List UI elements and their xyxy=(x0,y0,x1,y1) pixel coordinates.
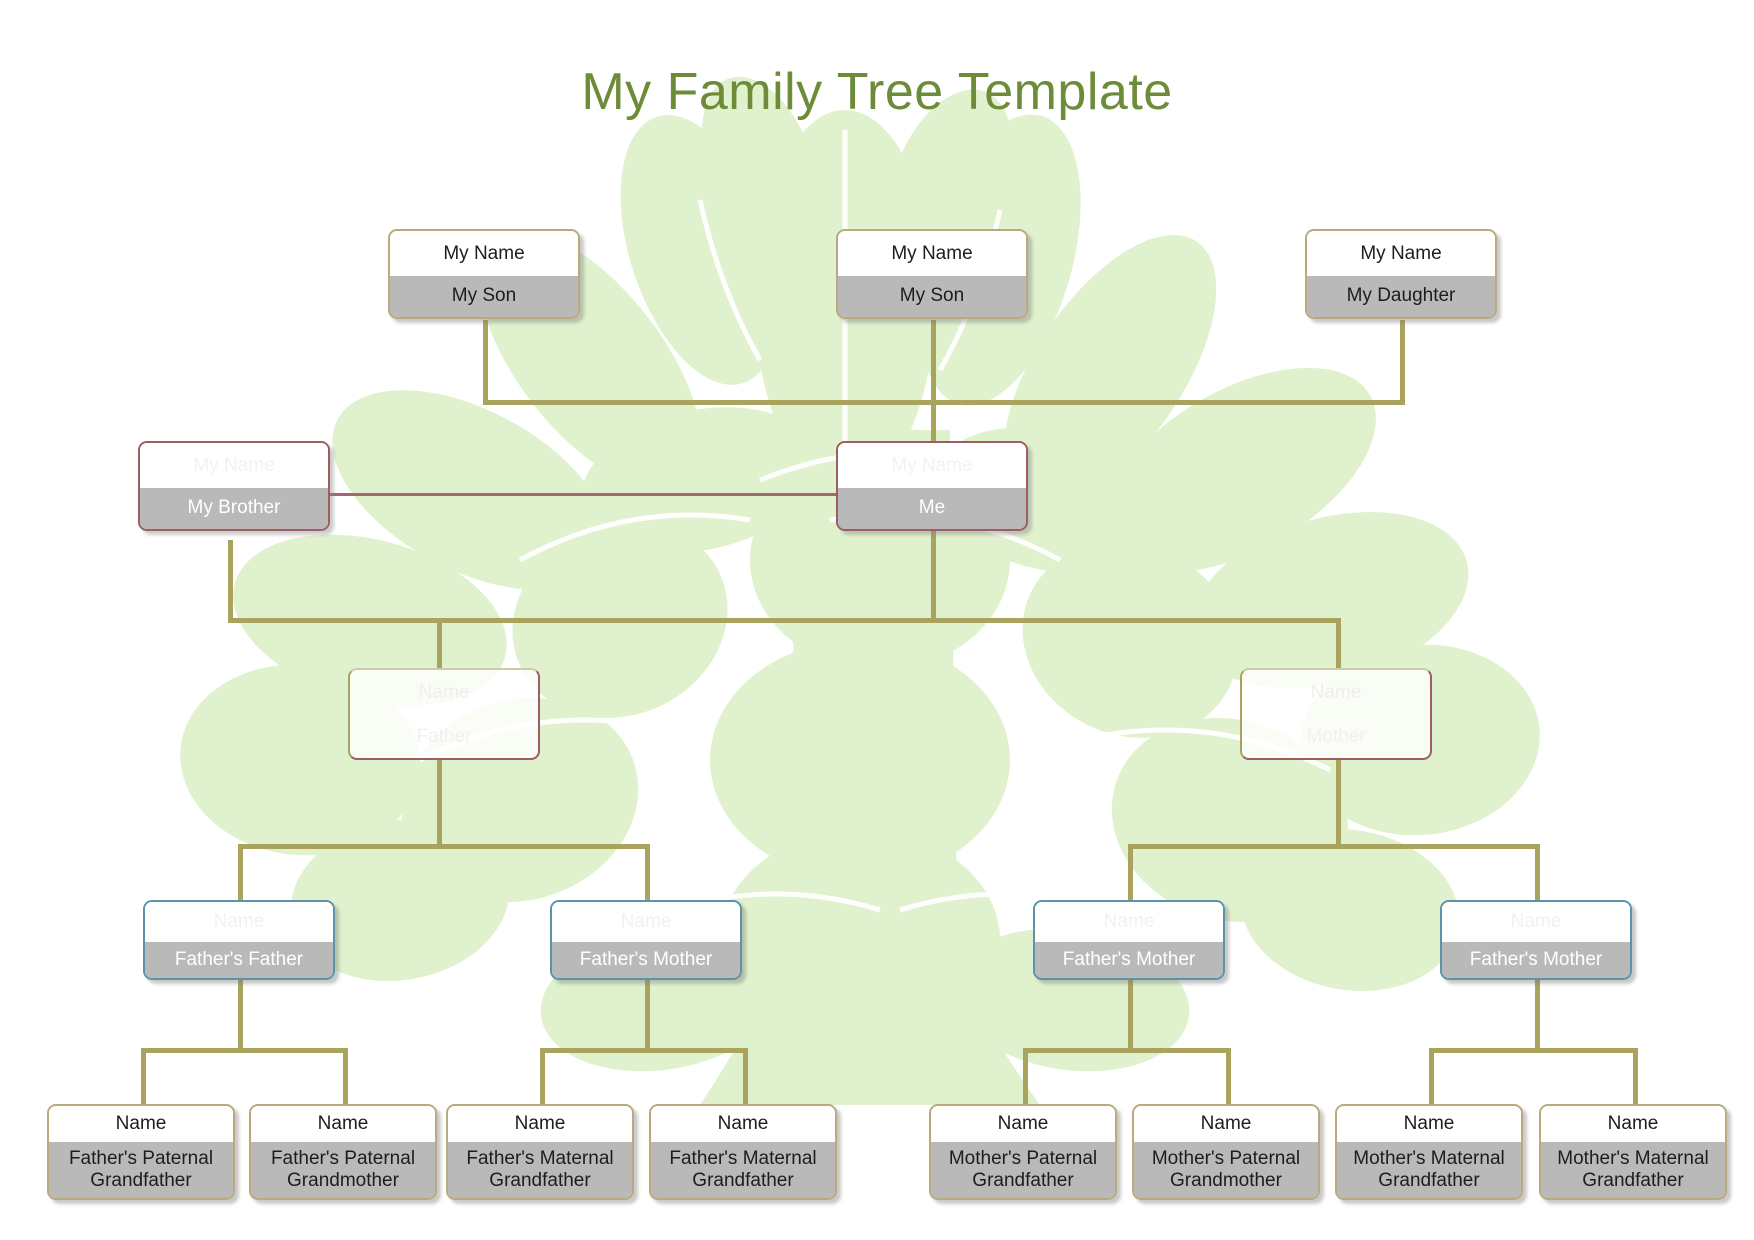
node-self-me[interactable]: My Name Me xyxy=(836,441,1028,531)
node-child-3-name[interactable]: My Name xyxy=(1307,231,1495,276)
connector-children-bus xyxy=(483,400,1405,405)
node-grandparent-4-role[interactable]: Father's Mother xyxy=(1442,942,1630,978)
connector-ggp4-stem xyxy=(743,1048,748,1104)
connector-gp2-stem xyxy=(645,844,650,900)
node-parent-father-role[interactable]: Father xyxy=(350,716,538,758)
node-great-grandparent-5-name[interactable]: Name xyxy=(931,1106,1115,1142)
node-child-3[interactable]: My Name My Daughter xyxy=(1305,229,1497,319)
node-grandparent-1[interactable]: Name Father's Father xyxy=(143,900,335,980)
node-great-grandparent-5-role[interactable]: Mother's Paternal Grandfather xyxy=(931,1142,1115,1198)
node-child-2-role[interactable]: My Son xyxy=(838,276,1026,317)
connector-sibling-link xyxy=(228,493,934,496)
node-parent-mother-name[interactable]: Name xyxy=(1242,670,1430,716)
node-great-grandparent-1[interactable]: Name Father's Paternal Grandfather xyxy=(47,1104,235,1200)
connector-mother-stem xyxy=(1336,618,1341,668)
connector-gp4-down xyxy=(1535,980,1540,1052)
connector-gp2-down xyxy=(645,980,650,1052)
ggp-8-role-line2: Grandfather xyxy=(1582,1170,1683,1192)
ggp-7-role-line2: Grandfather xyxy=(1378,1170,1479,1192)
connector-father-stem xyxy=(437,618,442,668)
connector-gp3-down xyxy=(1128,980,1133,1052)
node-grandparent-1-role[interactable]: Father's Father xyxy=(145,942,333,978)
node-great-grandparent-3-role[interactable]: Father's Maternal Grandfather xyxy=(448,1142,632,1198)
connector-ggp34-bus xyxy=(540,1048,743,1053)
connector-gp1-stem xyxy=(238,844,243,900)
connector-child-3-stem xyxy=(1400,320,1405,402)
connector-ggp5-stem xyxy=(1023,1048,1028,1104)
node-sibling-brother[interactable]: My Name My Brother xyxy=(138,441,330,531)
node-great-grandparent-8[interactable]: Name Mother's Maternal Grandfather xyxy=(1539,1104,1727,1200)
connector-gp1-down xyxy=(238,980,243,1052)
node-great-grandparent-3[interactable]: Name Father's Maternal Grandfather xyxy=(446,1104,634,1200)
connector-ggp6-stem xyxy=(1226,1048,1231,1104)
node-grandparent-3-role[interactable]: Father's Mother xyxy=(1035,942,1223,978)
ggp-3-role-line2: Grandfather xyxy=(489,1170,590,1192)
node-great-grandparent-4-role[interactable]: Father's Maternal Grandfather xyxy=(651,1142,835,1198)
node-grandparent-2-role[interactable]: Father's Mother xyxy=(552,942,740,978)
node-great-grandparent-2-name[interactable]: Name xyxy=(251,1106,435,1142)
ggp-2-role-line2: Grandmother xyxy=(287,1170,399,1192)
ggp-5-role-line2: Grandfather xyxy=(972,1170,1073,1192)
ggp-6-role-line2: Grandmother xyxy=(1170,1170,1282,1192)
connector-child-1-stem xyxy=(483,320,488,402)
connector-child-2-stem xyxy=(931,320,936,402)
node-parent-father[interactable]: Name Father xyxy=(348,668,540,760)
node-child-1-role[interactable]: My Son xyxy=(390,276,578,317)
node-great-grandparent-7[interactable]: Name Mother's Maternal Grandfather xyxy=(1335,1104,1523,1200)
node-great-grandparent-7-name[interactable]: Name xyxy=(1337,1106,1521,1142)
connector-parents-bus xyxy=(228,618,1336,623)
node-sibling-brother-name[interactable]: My Name xyxy=(140,443,328,488)
node-great-grandparent-6-name[interactable]: Name xyxy=(1134,1106,1318,1142)
node-grandparent-3[interactable]: Name Father's Mother xyxy=(1033,900,1225,980)
node-child-2[interactable]: My Name My Son xyxy=(836,229,1028,319)
connector-gp3-stem xyxy=(1128,844,1133,900)
connector-brother-down xyxy=(228,540,233,622)
node-great-grandparent-2[interactable]: Name Father's Paternal Grandmother xyxy=(249,1104,437,1200)
node-child-1[interactable]: My Name My Son xyxy=(388,229,580,319)
page-title: My Family Tree Template xyxy=(0,62,1754,122)
node-great-grandparent-7-role[interactable]: Mother's Maternal Grandfather xyxy=(1337,1142,1521,1198)
node-child-1-name[interactable]: My Name xyxy=(390,231,578,276)
connector-ggp7-stem xyxy=(1429,1048,1434,1104)
ggp-8-role-line1: Mother's Maternal xyxy=(1557,1148,1708,1170)
node-parent-mother-role[interactable]: Mother xyxy=(1242,716,1430,758)
node-grandparent-3-name[interactable]: Name xyxy=(1035,902,1223,942)
connector-me-down xyxy=(931,530,936,622)
node-great-grandparent-6-role[interactable]: Mother's Paternal Grandmother xyxy=(1134,1142,1318,1198)
node-grandparent-2[interactable]: Name Father's Mother xyxy=(550,900,742,980)
ggp-1-role-line2: Grandfather xyxy=(90,1170,191,1192)
ggp-5-role-line1: Mother's Paternal xyxy=(949,1148,1097,1170)
node-great-grandparent-6[interactable]: Name Mother's Paternal Grandmother xyxy=(1132,1104,1320,1200)
node-great-grandparent-4-name[interactable]: Name xyxy=(651,1106,835,1142)
ggp-7-role-line1: Mother's Maternal xyxy=(1353,1148,1504,1170)
connector-ggp12-bus xyxy=(141,1048,343,1053)
node-parent-mother[interactable]: Name Mother xyxy=(1240,668,1432,760)
node-child-2-name[interactable]: My Name xyxy=(838,231,1026,276)
node-great-grandparent-8-role[interactable]: Mother's Maternal Grandfather xyxy=(1541,1142,1725,1198)
connector-ggp2-stem xyxy=(343,1048,348,1104)
connector-father-gp-bus xyxy=(238,844,648,849)
node-great-grandparent-2-role[interactable]: Father's Paternal Grandmother xyxy=(251,1142,435,1198)
node-grandparent-1-name[interactable]: Name xyxy=(145,902,333,942)
ggp-1-role-line1: Father's Paternal xyxy=(69,1148,213,1170)
connector-ggp56-bus xyxy=(1023,1048,1226,1053)
connector-ggp1-stem xyxy=(141,1048,146,1104)
node-great-grandparent-1-name[interactable]: Name xyxy=(49,1106,233,1142)
node-great-grandparent-8-name[interactable]: Name xyxy=(1541,1106,1725,1142)
ggp-4-role-line2: Grandfather xyxy=(692,1170,793,1192)
node-great-grandparent-3-name[interactable]: Name xyxy=(448,1106,632,1142)
connector-father-down xyxy=(437,760,442,848)
node-self-me-name[interactable]: My Name xyxy=(838,443,1026,488)
connector-ggp78-bus xyxy=(1429,1048,1633,1053)
node-parent-father-name[interactable]: Name xyxy=(350,670,538,716)
ggp-6-role-line1: Mother's Paternal xyxy=(1152,1148,1300,1170)
ggp-3-role-line1: Father's Maternal xyxy=(466,1148,613,1170)
node-child-3-role[interactable]: My Daughter xyxy=(1307,276,1495,317)
ggp-4-role-line1: Father's Maternal xyxy=(669,1148,816,1170)
node-grandparent-4-name[interactable]: Name xyxy=(1442,902,1630,942)
node-great-grandparent-5[interactable]: Name Mother's Paternal Grandfather xyxy=(929,1104,1117,1200)
family-tree-canvas: My Family Tree Template My Name My Son xyxy=(0,0,1754,1240)
node-great-grandparent-1-role[interactable]: Father's Paternal Grandfather xyxy=(49,1142,233,1198)
connector-ggp3-stem xyxy=(540,1048,545,1104)
node-grandparent-4[interactable]: Name Father's Mother xyxy=(1440,900,1632,980)
node-sibling-brother-role[interactable]: My Brother xyxy=(140,488,328,529)
connector-mother-gp-bus xyxy=(1128,844,1538,849)
ggp-2-role-line1: Father's Paternal xyxy=(271,1148,415,1170)
node-self-me-role[interactable]: Me xyxy=(838,488,1026,529)
connector-mother-down xyxy=(1336,760,1341,848)
connector-ggp8-stem xyxy=(1633,1048,1638,1104)
node-grandparent-2-name[interactable]: Name xyxy=(552,902,740,942)
connector-gp4-stem xyxy=(1535,844,1540,900)
node-great-grandparent-4[interactable]: Name Father's Maternal Grandfather xyxy=(649,1104,837,1200)
